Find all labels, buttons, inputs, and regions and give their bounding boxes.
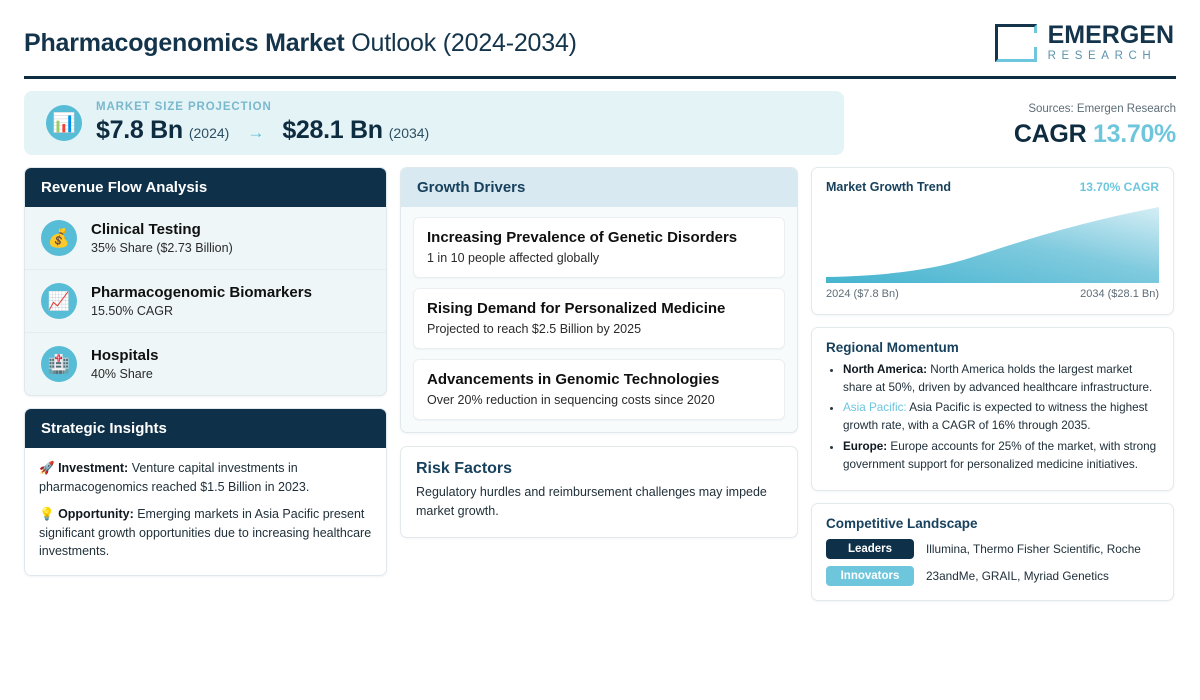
list-item: 🏥 Hospitals 40% Share	[25, 333, 386, 395]
driver-title: Increasing Prevalence of Genetic Disorde…	[427, 229, 771, 247]
list-item: Innovators 23andMe, GRAIL, Myriad Geneti…	[826, 566, 1159, 586]
chart-increasing-icon: 📈	[41, 283, 77, 319]
money-bag-icon: 💰	[41, 220, 77, 256]
growth-drivers-panel: Growth Drivers Increasing Prevalence of …	[400, 167, 798, 433]
area-chart-svg	[826, 202, 1159, 283]
list-item-title: Clinical Testing	[91, 221, 233, 240]
insight-item: 🚀 Investment: Venture capital investment…	[39, 459, 372, 496]
revenue-flow-list: 💰 Clinical Testing 35% Share ($2.73 Bill…	[25, 207, 386, 395]
cagr-percent: 13.70%	[1093, 120, 1176, 148]
insight-label: Opportunity:	[58, 507, 134, 521]
innovators-companies: 23andMe, GRAIL, Myriad Genetics	[926, 569, 1109, 583]
banner-text-block: MARKET SIZE PROJECTION $7.8 Bn (2024) → …	[96, 101, 429, 146]
cagr-block: Sources: Emergen Research CAGR 13.70%	[816, 103, 1176, 149]
middle-column: Growth Drivers Increasing Prevalence of …	[400, 167, 798, 538]
regional-momentum-heading: Regional Momentum	[826, 340, 1159, 355]
title-divider	[24, 76, 1176, 79]
trend-heading: Market Growth Trend	[826, 180, 951, 194]
infographic-page: Pharmacogenomics Market Outlook (2024-20…	[0, 0, 1200, 700]
leaders-companies: Illumina, Thermo Fisher Scientific, Roch…	[926, 542, 1141, 556]
market-size-banner: 📊 MARKET SIZE PROJECTION $7.8 Bn (2024) …	[24, 91, 844, 155]
list-item: North America: North America holds the l…	[843, 361, 1159, 397]
growth-drivers-heading: Growth Drivers	[401, 168, 797, 207]
left-column: Revenue Flow Analysis 💰 Clinical Testing…	[24, 167, 387, 576]
rocket-icon: 🚀	[39, 461, 55, 475]
insight-label: Investment:	[58, 461, 128, 475]
year-end: (2034)	[389, 125, 429, 141]
revenue-flow-heading: Revenue Flow Analysis	[25, 168, 386, 207]
hospital-icon: 🏥	[41, 346, 77, 382]
competitive-landscape-heading: Competitive Landscape	[826, 516, 1159, 531]
driver-title: Advancements in Genomic Technologies	[427, 371, 771, 389]
banner-values: $7.8 Bn (2024) → $28.1 Bn (2034)	[96, 116, 429, 145]
value-end: $28.1 Bn	[282, 116, 382, 145]
region-name: North America:	[843, 363, 927, 376]
strategic-insights-body: 🚀 Investment: Venture capital investment…	[25, 448, 386, 575]
axis-label-start: 2024 ($7.8 Bn)	[826, 288, 899, 300]
driver-card: Advancements in Genomic Technologies Ove…	[413, 359, 785, 420]
trend-cagr-badge: 13.70% CAGR	[1080, 180, 1159, 194]
strategic-insights-heading: Strategic Insights	[25, 409, 386, 448]
driver-title: Rising Demand for Personalized Medicine	[427, 300, 771, 318]
driver-sub: 1 in 10 people affected globally	[427, 251, 771, 265]
sources-text: Sources: Emergen Research	[816, 103, 1176, 117]
brand-name: EMERGEN	[1048, 23, 1174, 48]
axis-label-end: 2034 ($28.1 Bn)	[1080, 288, 1159, 300]
light-bulb-icon: 💡	[39, 507, 55, 521]
square-outline-icon	[995, 24, 1037, 62]
year-start: (2024)	[189, 125, 229, 141]
list-item-sub: 40% Share	[91, 367, 159, 381]
list-item: Asia Pacific: Asia Pacific is expected t…	[843, 399, 1159, 435]
list-item: Europe: Europe accounts for 25% of the m…	[843, 438, 1159, 474]
chart-axis-labels: 2024 ($7.8 Bn) 2034 ($28.1 Bn)	[826, 288, 1159, 300]
region-name: Europe:	[843, 440, 887, 453]
brand-logo: EMERGEN RESEARCH	[995, 23, 1176, 63]
growth-drivers-list: Increasing Prevalence of Genetic Disorde…	[401, 207, 797, 432]
risk-factors-heading: Risk Factors	[416, 460, 782, 478]
driver-card: Increasing Prevalence of Genetic Disorde…	[413, 217, 785, 278]
cagr-label: CAGR	[1014, 120, 1086, 148]
regional-momentum-card: Regional Momentum North America: North A…	[811, 327, 1174, 491]
cagr-value: CAGR 13.70%	[816, 120, 1176, 149]
page-title-light: Outlook (2024-2034)	[345, 29, 577, 57]
region-text: Europe accounts for 25% of the market, w…	[843, 440, 1156, 471]
insight-item: 💡 Opportunity: Emerging markets in Asia …	[39, 505, 372, 561]
list-item-sub: 15.50% CAGR	[91, 304, 312, 318]
right-column: Market Growth Trend 13.70% CAGR	[811, 167, 1174, 601]
driver-sub: Projected to reach $2.5 Billion by 2025	[427, 322, 771, 336]
revenue-flow-panel: Revenue Flow Analysis 💰 Clinical Testing…	[24, 167, 387, 396]
page-title-strong: Pharmacogenomics Market	[24, 29, 345, 57]
risk-factors-card: Risk Factors Regulatory hurdles and reim…	[400, 446, 798, 538]
list-item: Leaders Illumina, Thermo Fisher Scientif…	[826, 539, 1159, 559]
list-item: 📈 Pharmacogenomic Biomarkers 15.50% CAGR	[25, 270, 386, 333]
list-item-title: Hospitals	[91, 347, 159, 366]
risk-factors-text: Regulatory hurdles and reimbursement cha…	[416, 483, 782, 521]
area-series-path	[826, 207, 1159, 283]
competitive-landscape-card: Competitive Landscape Leaders Illumina, …	[811, 503, 1174, 601]
driver-card: Rising Demand for Personalized Medicine …	[413, 288, 785, 349]
region-name: Asia Pacific:	[843, 401, 907, 414]
driver-sub: Over 20% reduction in sequencing costs s…	[427, 393, 771, 407]
list-item-sub: 35% Share ($2.73 Billion)	[91, 241, 233, 255]
status-badge-innovators: Innovators	[826, 566, 914, 586]
arrow-icon: →	[247, 123, 264, 143]
strategic-insights-panel: Strategic Insights 🚀 Investment: Venture…	[24, 408, 387, 576]
list-item: 💰 Clinical Testing 35% Share ($2.73 Bill…	[25, 207, 386, 270]
market-growth-trend-card: Market Growth Trend 13.70% CAGR	[811, 167, 1174, 315]
trend-card-header: Market Growth Trend 13.70% CAGR	[826, 180, 1159, 194]
growth-area-chart	[826, 202, 1159, 283]
value-start: $7.8 Bn	[96, 116, 183, 145]
list-item-title: Pharmacogenomic Biomarkers	[91, 284, 312, 303]
bar-chart-icon: 📊	[46, 105, 82, 141]
page-header: Pharmacogenomics Market Outlook (2024-20…	[24, 0, 1176, 72]
brand-logo-text: EMERGEN RESEARCH	[1048, 23, 1174, 63]
brand-tagline: RESEARCH	[1048, 51, 1174, 63]
page-title: Pharmacogenomics Market Outlook (2024-20…	[24, 29, 577, 58]
content-columns: Revenue Flow Analysis 💰 Clinical Testing…	[24, 167, 1176, 601]
banner-label: MARKET SIZE PROJECTION	[96, 101, 429, 114]
status-badge-leaders: Leaders	[826, 539, 914, 559]
regional-momentum-list: North America: North America holds the l…	[826, 361, 1159, 474]
